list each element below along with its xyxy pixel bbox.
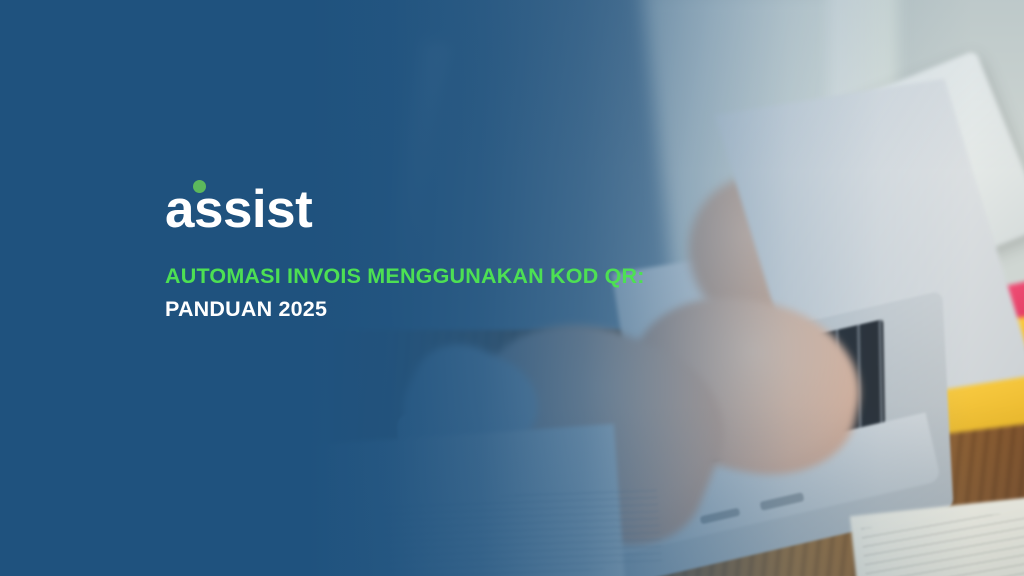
logo-wordmark: assist	[165, 183, 312, 236]
banner-content: assist AUTOMASI INVOIS MENGGUNAKAN KOD Q…	[165, 178, 805, 327]
banner-title-line-1: AUTOMASI INVOIS MENGGUNAKAN KOD QR:	[165, 260, 805, 293]
green-dot-icon	[193, 180, 206, 193]
banner-title-line-2: PANDUAN 2025	[165, 293, 805, 326]
blog-banner: assist AUTOMASI INVOIS MENGGUNAKAN KOD Q…	[0, 0, 1024, 576]
assist-logo: assist	[165, 178, 805, 236]
